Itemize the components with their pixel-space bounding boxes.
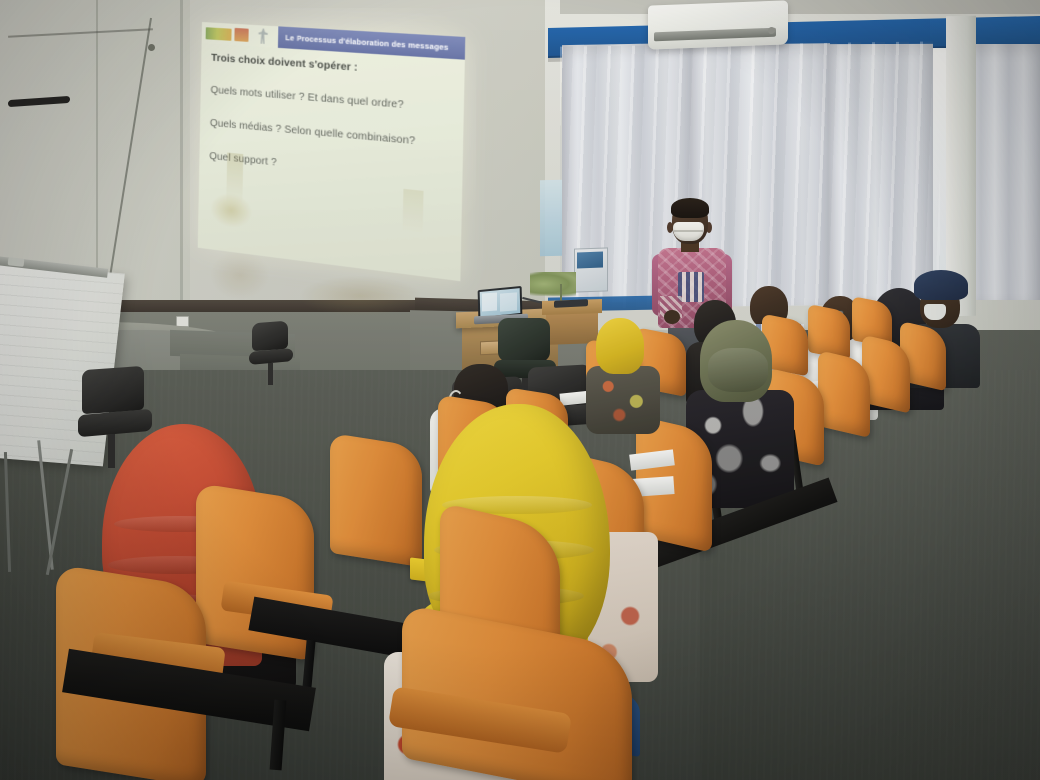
slide-line: Quels mots utiliser ? Et dans quel ordre… [210,85,454,116]
wall-panel-blue [540,180,562,256]
air-conditioner-icon [648,0,788,49]
laptop-window-left [482,292,497,311]
chair-backrest [498,318,550,362]
slide-line: Quel support ? [209,151,453,187]
curtain-folds [560,41,940,308]
left-wall-panel [0,0,190,300]
slide-title: Le Processus d'élaboration des messages [278,32,449,52]
flipchart-clip [8,257,25,267]
projection-smudge [403,189,424,234]
wall-seam [180,0,183,300]
laptop-window-right [500,292,517,311]
headscarf-fold [708,348,768,392]
cable-clip [148,44,155,51]
ceiling-shadow [560,0,1040,14]
chair-backrest [82,366,144,414]
wall-seam [96,0,98,300]
organisation-logo-icon [206,27,232,41]
figure-emblem-icon [258,28,270,44]
slide-line: Quels médias ? Selon quelle combinaison? [210,118,454,151]
chair-backrest [252,321,288,352]
face-mask-icon [673,222,704,241]
presenter-hand-left [664,310,680,324]
wall-stain [300,276,420,316]
wall-poster-image [577,252,603,269]
slide-logo-group [202,22,279,48]
conference-room-photo: Le Processus d'élaboration des messages … [0,0,1040,780]
chair-post [268,363,273,385]
slide-body: Trois choix doivent s'opérer : Quels mot… [209,53,455,187]
projected-slide: Le Processus d'élaboration des messages … [198,22,466,281]
participant-headwrap [914,270,968,300]
presenter-hair [671,198,709,218]
potted-plant-leaves [530,272,576,296]
participant-headwrap [596,318,644,374]
projection-smudge [210,191,253,230]
face-mask-icon [924,304,946,320]
unfpa-logo-icon [234,28,248,42]
face-mask-fold [674,230,703,232]
